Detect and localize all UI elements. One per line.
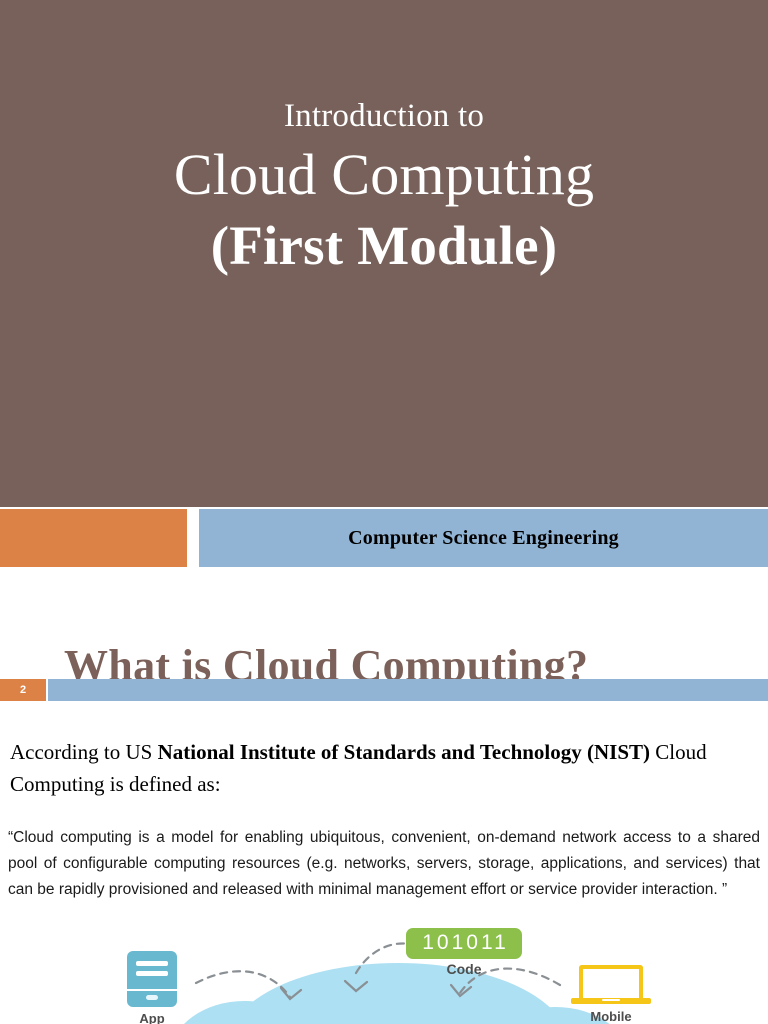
- server-slot-1: [136, 961, 168, 966]
- page-number-badge: 2: [0, 679, 46, 701]
- intro-text-before: According to US: [10, 740, 158, 764]
- title-line-main: Cloud Computing: [0, 140, 768, 210]
- code-label: Code: [394, 961, 534, 977]
- footer-banner-label: Computer Science Engineering: [348, 527, 619, 550]
- laptop-notch: [602, 999, 620, 1001]
- title-block: Introduction to Cloud Computing (First M…: [0, 92, 768, 282]
- intro-text-bold: National Institute of Standards and Tech…: [158, 740, 650, 764]
- title-slide-footer: Computer Science Engineering: [0, 509, 768, 569]
- cloud-architecture-diagram: App Server 101011 Code Mobile: [0, 925, 768, 1024]
- app-server-label-line1: App: [120, 1011, 184, 1024]
- mobile-node: Mobile: [556, 965, 666, 1024]
- server-divider: [127, 989, 177, 991]
- server-led-icon: [146, 995, 158, 1000]
- footer-banner: Computer Science Engineering: [199, 509, 768, 567]
- laptop-screen: [579, 965, 643, 999]
- nist-definition-quote: “Cloud computing is a model for enabling…: [8, 825, 760, 903]
- footer-accent-block: [0, 509, 187, 567]
- content-slide: What is Cloud Computing? 2 According to …: [0, 569, 768, 1024]
- app-server-node: App Server: [120, 951, 184, 1024]
- app-server-label: App Server: [120, 1011, 184, 1024]
- laptop-icon: [571, 965, 651, 1005]
- app-server-icon: [127, 951, 177, 1007]
- server-slot-2: [136, 971, 168, 976]
- mobile-label: Mobile: [556, 1009, 666, 1024]
- title-slide: Introduction to Cloud Computing (First M…: [0, 0, 768, 507]
- intro-paragraph: According to US National Institute of St…: [10, 736, 758, 800]
- title-line-module: (First Module): [0, 210, 768, 282]
- code-node: 101011 Code: [394, 928, 534, 977]
- page-number-bar: 2: [0, 679, 768, 701]
- title-line-intro: Introduction to: [0, 92, 768, 140]
- page-number-rule: [48, 679, 768, 701]
- binary-code-badge: 101011: [406, 928, 522, 959]
